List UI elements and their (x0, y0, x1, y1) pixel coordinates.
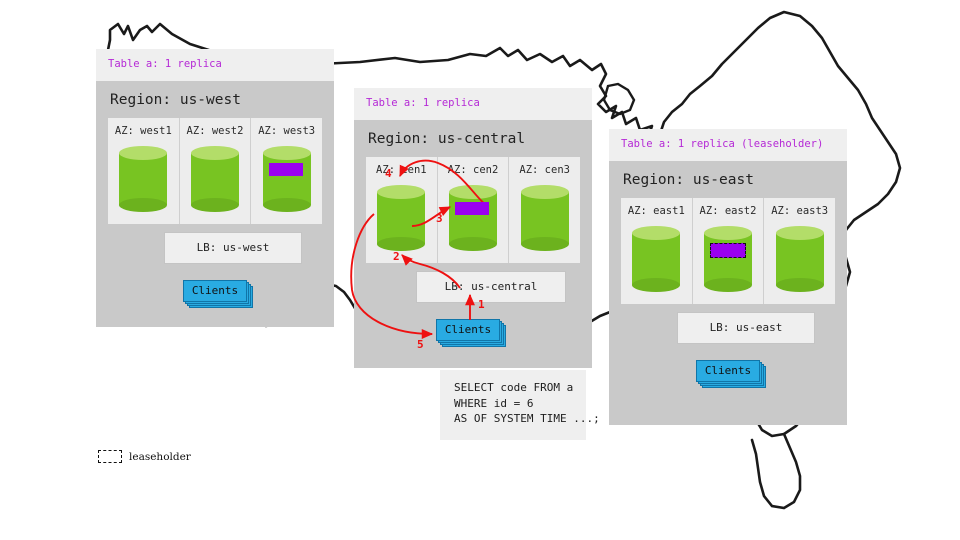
az-cell-west1[interactable]: AZ: west1 (108, 118, 180, 224)
step-number-2: 2 (393, 250, 400, 263)
load-balancer-us-central[interactable]: LB: us-central (416, 271, 566, 303)
az-label-west1: AZ: west1 (108, 125, 179, 137)
cylinder-bottom (776, 278, 824, 292)
cylinder-bottom (263, 198, 311, 212)
cylinder-body (119, 153, 167, 205)
az-label-cen3: AZ: cen3 (509, 164, 580, 176)
cylinder-body (704, 233, 752, 285)
region-banner-us-east: Table a: 1 replica (leaseholder) (609, 129, 847, 161)
region-title-us-central: Region: us-central (354, 120, 592, 157)
node-cylinder-east3[interactable] (776, 226, 824, 292)
region-panel-us-central: Table a: 1 replica Region: us-central AZ… (354, 88, 592, 368)
cylinder-body (632, 233, 680, 285)
az-label-east2: AZ: east2 (693, 205, 764, 217)
cylinder-body (449, 192, 497, 244)
cylinder-top (704, 226, 752, 240)
region-panel-us-west: Table a: 1 replica Region: us-west AZ: w… (96, 49, 334, 327)
az-label-west2: AZ: west2 (180, 125, 251, 137)
clients-label-us-west[interactable]: Clients (183, 280, 247, 302)
step-number-3: 3 (436, 212, 443, 225)
cylinder-top (521, 185, 569, 199)
replica-marker-cen2[interactable] (455, 202, 489, 215)
load-balancer-us-west[interactable]: LB: us-west (164, 232, 302, 264)
az-cell-cen3[interactable]: AZ: cen3 (509, 157, 580, 263)
region-panel-us-east: Table a: 1 replica (leaseholder) Region:… (609, 129, 847, 425)
replica-marker-west3[interactable] (269, 163, 303, 176)
cylinder-top (377, 185, 425, 199)
replica-marker-east2-leaseholder[interactable] (710, 243, 746, 258)
region-banner-us-central: Table a: 1 replica (354, 88, 592, 120)
cylinder-top (776, 226, 824, 240)
node-cylinder-west1[interactable] (119, 146, 167, 212)
cylinder-body (521, 192, 569, 244)
step-number-5: 5 (417, 338, 424, 351)
sql-query-box: SELECT code FROM a WHERE id = 6 AS OF SY… (440, 370, 586, 440)
clients-label-us-central[interactable]: Clients (436, 319, 500, 341)
leaseholder-swatch-icon (98, 450, 122, 463)
az-cell-west2[interactable]: AZ: west2 (180, 118, 252, 224)
node-cylinder-east1[interactable] (632, 226, 680, 292)
az-label-cen2: AZ: cen2 (438, 164, 509, 176)
cylinder-top (191, 146, 239, 160)
florida-peninsula (752, 434, 800, 508)
az-cell-cen1[interactable]: AZ: cen1 (366, 157, 438, 263)
cylinder-bottom (377, 237, 425, 251)
cylinder-top (449, 185, 497, 199)
az-strip-us-east: AZ: east1 AZ: east2 AZ: east3 (621, 198, 835, 304)
clients-us-west[interactable]: Clients (183, 280, 253, 308)
cylinder-bottom (449, 237, 497, 251)
cylinder-bottom (191, 198, 239, 212)
region-title-us-east: Region: us-east (609, 161, 847, 198)
az-cell-east3[interactable]: AZ: east3 (764, 198, 835, 304)
region-banner-us-west: Table a: 1 replica (96, 49, 334, 81)
cylinder-bottom (704, 278, 752, 292)
cylinder-body (263, 153, 311, 205)
cylinder-bottom (119, 198, 167, 212)
az-cell-west3[interactable]: AZ: west3 (251, 118, 322, 224)
az-label-west3: AZ: west3 (251, 125, 322, 137)
great-lakes (604, 84, 634, 114)
cylinder-top (263, 146, 311, 160)
cylinder-bottom (632, 278, 680, 292)
az-cell-cen2[interactable]: AZ: cen2 (438, 157, 510, 263)
az-strip-us-west: AZ: west1 AZ: west2 AZ: west3 (108, 118, 322, 224)
node-cylinder-west3[interactable] (263, 146, 311, 212)
cylinder-top (119, 146, 167, 160)
node-cylinder-cen1[interactable] (377, 185, 425, 251)
cylinder-body (377, 192, 425, 244)
load-balancer-us-east[interactable]: LB: us-east (677, 312, 815, 344)
clients-label-us-east[interactable]: Clients (696, 360, 760, 382)
az-label-cen1: AZ: cen1 (366, 164, 437, 176)
cylinder-bottom (521, 237, 569, 251)
node-cylinder-cen2[interactable] (449, 185, 497, 251)
region-title-us-west: Region: us-west (96, 81, 334, 118)
node-cylinder-cen3[interactable] (521, 185, 569, 251)
az-strip-us-central: AZ: cen1 AZ: cen2 AZ: cen3 (366, 157, 580, 263)
cylinder-body (191, 153, 239, 205)
cylinder-top (632, 226, 680, 240)
clients-us-east[interactable]: Clients (696, 360, 766, 388)
node-cylinder-west2[interactable] (191, 146, 239, 212)
diagram-canvas: Table a: 1 replica Region: us-west AZ: w… (0, 0, 960, 540)
az-label-east3: AZ: east3 (764, 205, 835, 217)
legend: leaseholder (98, 450, 191, 463)
step-number-1: 1 (478, 298, 485, 311)
clients-us-central[interactable]: Clients (436, 319, 506, 347)
legend-label: leaseholder (129, 451, 191, 463)
az-cell-east1[interactable]: AZ: east1 (621, 198, 693, 304)
node-cylinder-east2[interactable] (704, 226, 752, 292)
az-label-east1: AZ: east1 (621, 205, 692, 217)
az-cell-east2[interactable]: AZ: east2 (693, 198, 765, 304)
step-number-4: 4 (385, 167, 392, 180)
cylinder-body (776, 233, 824, 285)
